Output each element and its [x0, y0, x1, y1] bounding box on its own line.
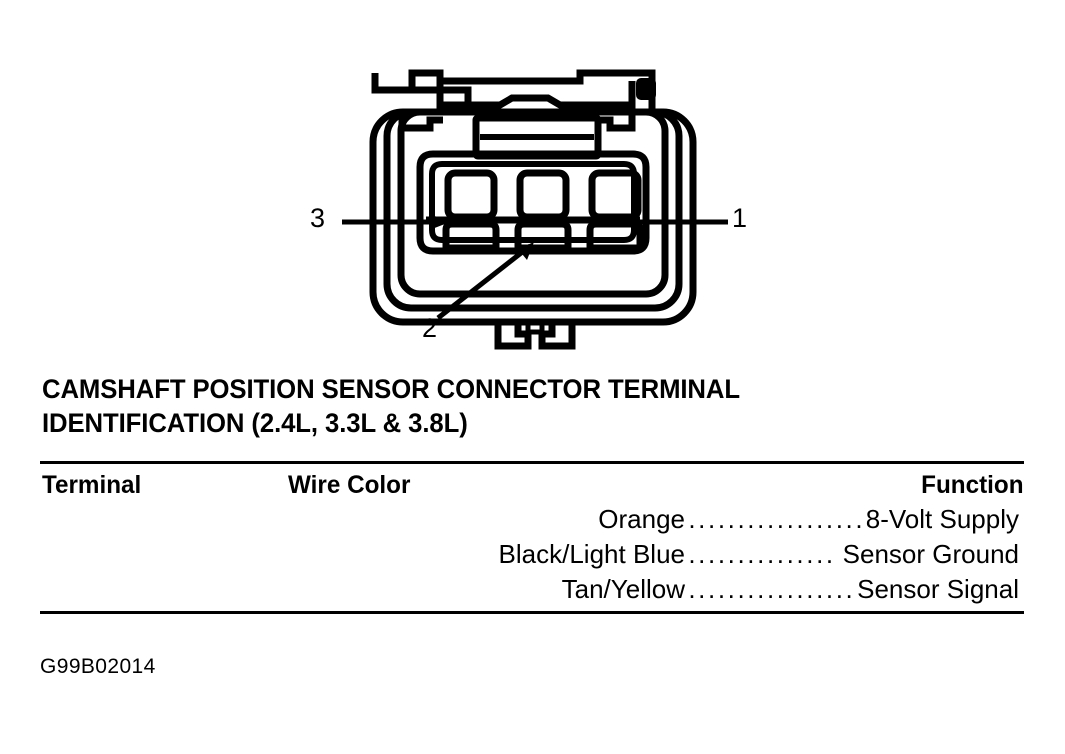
- column-header-terminal: Terminal: [42, 470, 141, 500]
- cell-function: 8-Volt Supply: [861, 502, 1024, 537]
- diagram-page: 3 1 2 CAMSHAFT POSITION SENSOR CONNECTOR…: [0, 0, 1065, 754]
- latch-nub: [638, 80, 654, 98]
- table-header-row: Terminal Wire Color Function: [40, 464, 1024, 502]
- foot-left: [498, 322, 528, 346]
- title-line-1: CAMSHAFT POSITION SENSOR CONNECTOR TERMI…: [42, 372, 997, 406]
- connector-drawing: [280, 50, 790, 360]
- cell-function: Sensor Ground: [838, 537, 1024, 572]
- table-row: ........................................…: [40, 502, 1024, 537]
- table-row: ........................................…: [40, 572, 1024, 607]
- connector-figure: 3 1 2: [280, 50, 790, 360]
- callout-label-3: 3: [310, 205, 325, 232]
- cavity-2-center: [518, 224, 568, 248]
- terminal-housing-outline: [420, 154, 646, 251]
- cell-wire-color: Black/Light Blue: [40, 537, 690, 572]
- cell-wire-color: Tan/Yellow: [40, 572, 690, 607]
- cell-function: Sensor Signal: [852, 572, 1024, 607]
- foot-center-nub: [528, 322, 542, 332]
- key-square-center: [520, 173, 566, 217]
- callout-label-2: 2: [422, 315, 437, 342]
- callout-label-1: 1: [732, 205, 747, 232]
- figure-id-code: G99B02014: [40, 655, 156, 679]
- table-rule-bottom: [40, 611, 1024, 614]
- column-header-function: Function: [922, 470, 1024, 500]
- title-line-2: IDENTIFICATION (2.4L, 3.3L & 3.8L): [42, 406, 997, 440]
- foot-right: [542, 322, 572, 346]
- cavity-3-left: [446, 224, 496, 248]
- terminal-identification-table: Terminal Wire Color Function ...........…: [40, 461, 1024, 614]
- column-header-wire-color: Wire Color: [288, 470, 410, 500]
- table-row: ........................................…: [40, 537, 1024, 572]
- figure-title: CAMSHAFT POSITION SENSOR CONNECTOR TERMI…: [42, 372, 1027, 440]
- cell-wire-color: Orange: [40, 502, 690, 537]
- key-square-left: [448, 173, 494, 217]
